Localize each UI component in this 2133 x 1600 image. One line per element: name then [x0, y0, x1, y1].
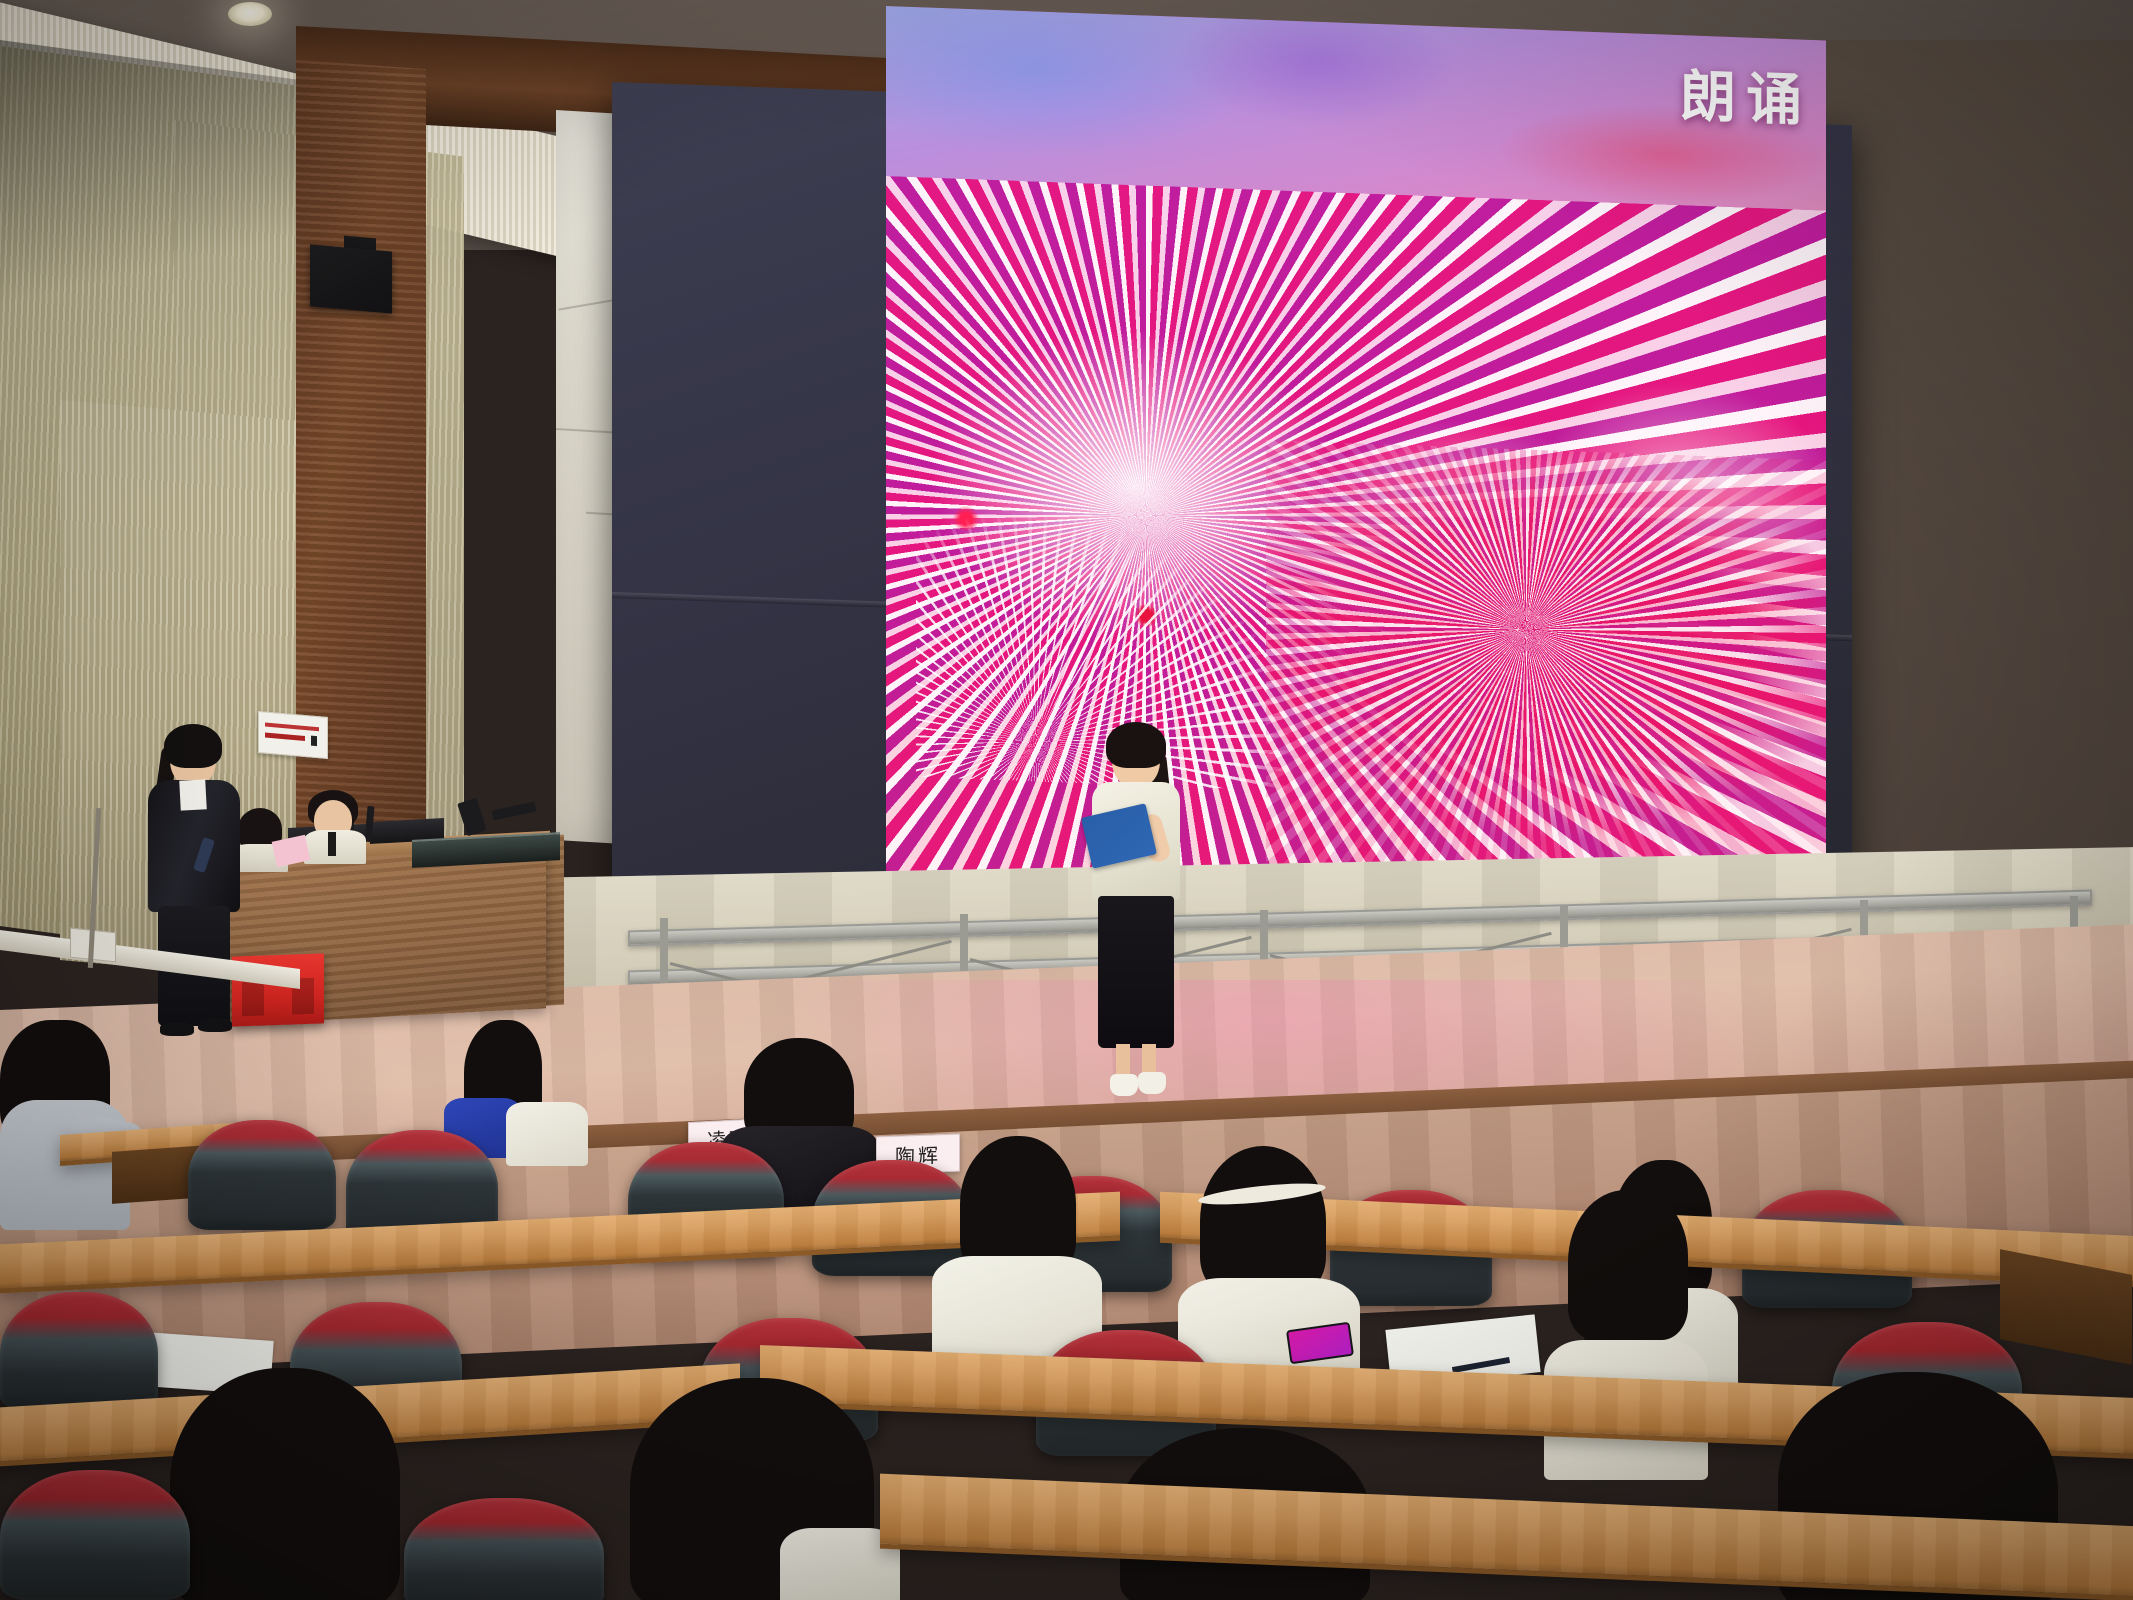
audience-sleeve: [506, 1102, 588, 1166]
recessed-downlight-icon: [228, 2, 272, 26]
wall-shadow: [0, 40, 300, 380]
reciter-shoe-left: [1110, 1074, 1138, 1096]
seat-front-row-1[interactable]: [404, 1498, 604, 1600]
watercolor-flowers-right: [1266, 440, 1826, 907]
phone-screen: [1288, 1324, 1352, 1362]
led-screen-content: 朗诵: [886, 6, 1826, 906]
emcee-shoe-left: [160, 1022, 194, 1036]
reciter-shoe-right: [1138, 1072, 1166, 1094]
emcee-hair: [164, 724, 222, 768]
audience-hair: [170, 1368, 400, 1600]
seat-row-c-1[interactable]: [0, 1292, 158, 1410]
seat-row-b-1[interactable]: [188, 1120, 336, 1230]
wall-speaker-icon: [310, 244, 392, 313]
reciter-skirt: [1098, 896, 1174, 1048]
wall-right-dark: [1820, 40, 2133, 900]
audience-front-center: [630, 1378, 890, 1600]
control-desk-staff-seated: [300, 790, 380, 860]
audience-white-shirt-1: [926, 1136, 1116, 1336]
emcee-blouse-collar: [179, 779, 207, 810]
led-screen-title: 朗诵: [1680, 51, 1812, 137]
audience-bun-hair: [1200, 1146, 1326, 1296]
seat-front-row-2[interactable]: [0, 1470, 190, 1600]
gooseneck-mic-3[interactable]: [491, 802, 536, 821]
audience-front-left: [170, 1368, 420, 1600]
emcee-with-microphone: [140, 730, 250, 1060]
auditorium-scene: 朗诵: [0, 0, 2133, 1600]
pink-paper-in-hand: [272, 835, 311, 868]
wall-notice-sign: [258, 711, 328, 759]
reciter-on-stage: [1078, 730, 1198, 1100]
reciter-hair: [1106, 722, 1166, 768]
staff-tie: [328, 832, 336, 856]
emcee-shoe-right: [198, 1018, 232, 1032]
